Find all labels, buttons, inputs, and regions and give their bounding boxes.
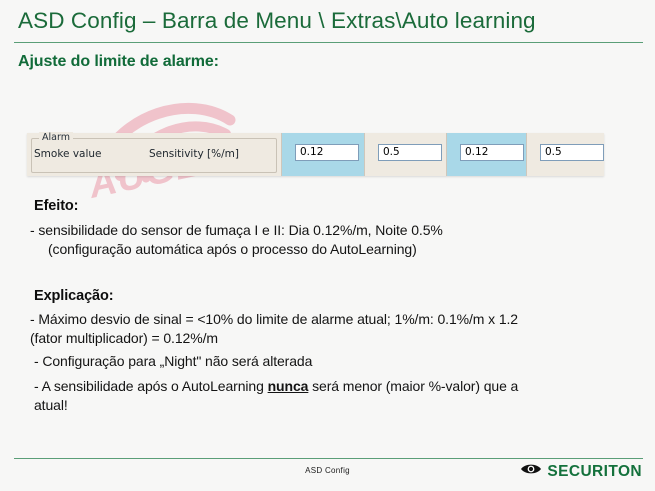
sensitivity-column-3: 0.12 bbox=[446, 133, 526, 176]
asd-config-alarm-panel: Alarm Smoke value Sensitivity [%/m] 0.12… bbox=[27, 133, 604, 176]
explicacao-bullet-3-emphasis: nunca bbox=[268, 378, 309, 394]
efeito-bullet-line2: (configuração automática após o processo… bbox=[30, 240, 610, 259]
sensitivity-input-4[interactable]: 0.5 bbox=[540, 144, 604, 161]
alarm-groupbox-column: Alarm Smoke value Sensitivity [%/m] bbox=[27, 133, 281, 176]
sensitivity-column-4: 0.5 bbox=[526, 133, 604, 176]
explicacao-bullet-3-pre: - A sensibilidade após o AutoLearning bbox=[34, 378, 268, 394]
explicacao-bullet-1: - Máximo desvio de sinal = <10% do limit… bbox=[30, 310, 630, 347]
sensitivity-column-2: 0.5 bbox=[364, 133, 446, 176]
efeito-bullet: - sensibilidade do sensor de fumaça I e … bbox=[30, 221, 610, 258]
sensitivity-input-1[interactable]: 0.12 bbox=[295, 144, 359, 161]
groupbox-label: Alarm bbox=[39, 132, 73, 143]
explicacao-bullet-1-line1: - Máximo desvio de sinal = <10% do limit… bbox=[30, 310, 630, 329]
eye-icon bbox=[520, 462, 542, 481]
footer-divider bbox=[14, 458, 643, 459]
explicacao-bullet-3-line1: - A sensibilidade após o AutoLearning nu… bbox=[34, 377, 624, 396]
efeito-heading: Efeito: bbox=[34, 198, 78, 214]
securiton-logo: SECURITON bbox=[520, 462, 642, 481]
securiton-logo-text: SECURITON bbox=[547, 463, 642, 481]
sensitivity-input-2[interactable]: 0.5 bbox=[378, 144, 442, 161]
slide-canvas: AUGEO ASD Config – Barra de Menu \ Extra… bbox=[0, 0, 655, 491]
title-divider bbox=[14, 42, 643, 43]
explicacao-heading: Explicação: bbox=[34, 288, 114, 304]
sensitivity-column-header: Sensitivity [%/m] bbox=[149, 148, 239, 160]
page-title: ASD Config – Barra de Menu \ Extras\Auto… bbox=[18, 8, 643, 34]
explicacao-bullet-2: - Configuração para „Night" não será alt… bbox=[34, 352, 614, 371]
sensitivity-input-3[interactable]: 0.12 bbox=[460, 144, 524, 161]
explicacao-bullet-1-line2: (fator multiplicador) = 0.12%/m bbox=[30, 329, 630, 348]
explicacao-bullet-3-post: será menor (maior %-valor) que a bbox=[308, 378, 518, 394]
sensitivity-column-1: 0.12 bbox=[281, 133, 364, 176]
explicacao-bullet-3: - A sensibilidade após o AutoLearning nu… bbox=[34, 377, 624, 414]
explicacao-bullet-3-line2: atual! bbox=[34, 396, 624, 415]
page-subtitle: Ajuste do limite de alarme: bbox=[18, 53, 219, 71]
smoke-value-label: Smoke value bbox=[34, 148, 102, 160]
efeito-bullet-line1: - sensibilidade do sensor de fumaça I e … bbox=[30, 221, 610, 240]
